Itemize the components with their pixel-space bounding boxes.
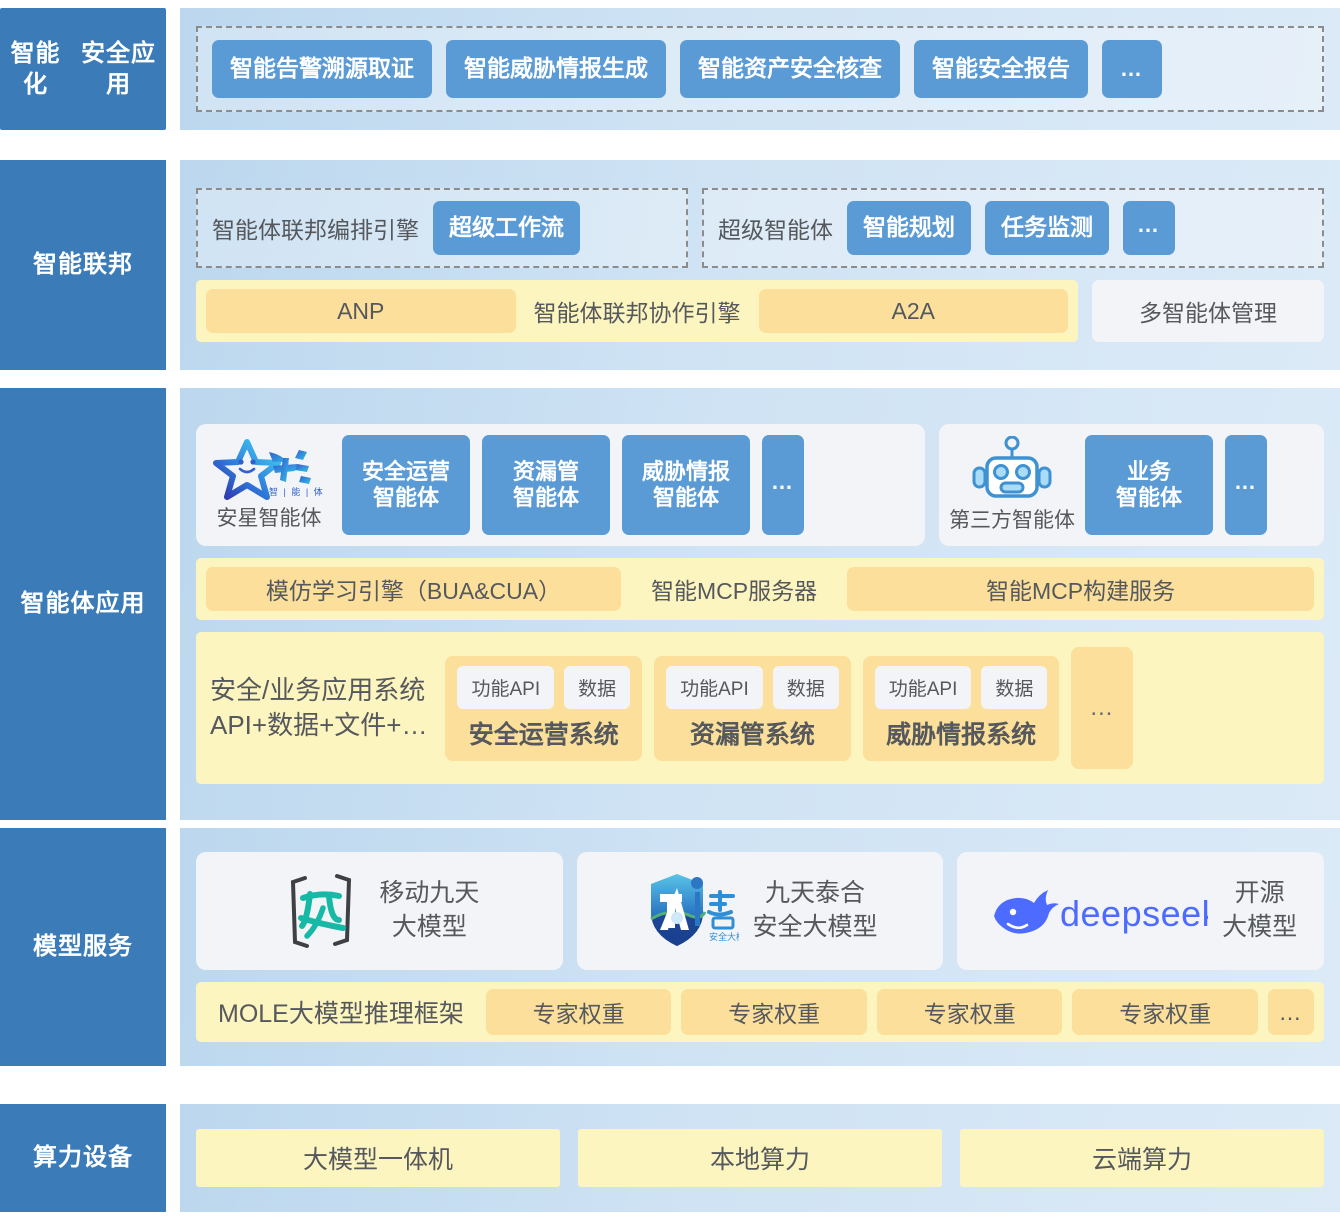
layer-row-compute-devices: 算力设备 大模型一体机 本地算力 云端算力 [0, 1104, 1340, 1212]
rail-text-line2: 安全应用 [71, 38, 166, 100]
federation-orchestration-label: 智能体联邦编排引擎 [212, 211, 419, 245]
tag-function-api: 功能API [457, 666, 554, 709]
system-name-security-ops: 安全运营系统 [469, 715, 619, 751]
architecture-diagram: 智能化 安全应用 智能告警溯源取证 智能威胁情报生成 智能资产安全核查 智能安全… [0, 0, 1340, 1218]
model-label-deepseek: 开源 大模型 [1222, 877, 1297, 945]
chip-intelligent-planning[interactable]: 智能规划 [847, 201, 971, 255]
expert-weight-more[interactable]: … [1268, 989, 1314, 1035]
compute-cells: 大模型一体机 本地算力 云端算力 [196, 1129, 1324, 1187]
layer-body-compute-devices: 大模型一体机 本地算力 云端算力 [180, 1104, 1340, 1212]
rail-label-agent-applications: 智能体应用 [0, 388, 166, 820]
mcp-server-label: 智能MCP服务器 [629, 572, 839, 606]
app-chip-asset-security-check[interactable]: 智能资产安全核查 [680, 40, 900, 98]
anxing-brand: 智 | 能 | 体 安星智能体 [208, 438, 330, 532]
layer-row-intelligent-federation: 智能联邦 智能体联邦编排引擎 超级工作流 超级智能体 智能规划 任务监测 … A… [0, 160, 1340, 370]
mcp-build-service[interactable]: 智能MCP构建服务 [847, 567, 1314, 611]
app-chip-threat-intel-gen[interactable]: 智能威胁情报生成 [446, 40, 666, 98]
agent-cards-strip: 智 | 能 | 体 安星智能体 安全运营智能体 资漏管智能体 威胁情报智能体 … [196, 424, 1324, 546]
rail-label-model-services: 模型服务 [0, 828, 166, 1066]
application-systems-band: 安全/业务应用系统 API+数据+文件+… 功能API 数据 安全运营系统 功能… [196, 632, 1324, 784]
anxing-star-logo: 智 | 能 | 体 [211, 438, 327, 500]
compute-cell-appliance[interactable]: 大模型一体机 [196, 1129, 560, 1187]
system-box-threat-intel[interactable]: 功能API 数据 威胁情报系统 [863, 656, 1060, 761]
layer-row-intelligent-security-apps: 智能化 安全应用 智能告警溯源取证 智能威胁情报生成 智能资产安全核查 智能安全… [0, 8, 1340, 130]
chip-super-agent-more[interactable]: … [1123, 201, 1175, 255]
chip-task-monitoring[interactable]: 任务监测 [985, 201, 1109, 255]
system-box-more[interactable]: … [1071, 647, 1133, 769]
rail-label-intelligent-federation: 智能联邦 [0, 160, 166, 370]
system-box-security-ops[interactable]: 功能API 数据 安全运营系统 [445, 656, 642, 761]
mcp-service-band: 模仿学习引擎（BUA&CUA） 智能MCP服务器 智能MCP构建服务 [196, 558, 1324, 620]
model-cards-strip: 移动九天 大模型 [196, 852, 1324, 970]
tag-function-api: 功能API [666, 666, 763, 709]
app-chip-security-report[interactable]: 智能安全报告 [914, 40, 1088, 98]
expert-weight-2[interactable]: 专家权重 [681, 989, 867, 1035]
model-label-jiutian: 移动九天 大模型 [379, 877, 479, 945]
mole-framework-band: MOLE大模型推理框架 专家权重 专家权重 专家权重 专家权重 … [196, 982, 1324, 1042]
agent-chip-security-ops[interactable]: 安全运营智能体 [342, 435, 470, 535]
imitation-learning-engine[interactable]: 模仿学习引擎（BUA&CUA） [206, 567, 621, 611]
system-box-vuln-asset[interactable]: 功能API 数据 资漏管系统 [654, 656, 851, 761]
third-party-agent-more[interactable]: … [1225, 435, 1267, 535]
layer-row-model-services: 模型服务 [0, 828, 1340, 1066]
third-party-brand-label: 第三方智能体 [949, 504, 1075, 534]
agent-chip-threat-intel[interactable]: 威胁情报智能体 [622, 435, 750, 535]
layer-body-model-services: 移动九天 大模型 [180, 828, 1340, 1066]
chip-super-workflow[interactable]: 超级工作流 [433, 201, 580, 255]
layer-row-agent-applications: 智能体应用 [0, 388, 1340, 820]
taihe-logo: 安全大模型 [643, 868, 739, 954]
expert-weight-3[interactable]: 专家权重 [877, 989, 1063, 1035]
svg-text:智 | 能 | 体: 智 | 能 | 体 [269, 486, 324, 497]
rail-text-line1: 智能化 [0, 38, 71, 100]
tag-data: 数据 [981, 666, 1047, 709]
anxing-agent-card: 智 | 能 | 体 安星智能体 安全运营智能体 资漏管智能体 威胁情报智能体 … [196, 424, 925, 546]
tag-data: 数据 [773, 666, 839, 709]
expert-weight-1[interactable]: 专家权重 [486, 989, 672, 1035]
protocol-a2a[interactable]: A2A [759, 289, 1069, 333]
app-chip-group: 智能告警溯源取证 智能威胁情报生成 智能资产安全核查 智能安全报告 … [196, 26, 1324, 112]
app-chip-more[interactable]: … [1102, 40, 1162, 98]
expert-weight-4[interactable]: 专家权重 [1072, 989, 1258, 1035]
federation-collab-engine-label: 智能体联邦协作引擎 [528, 294, 747, 328]
app-chip-alert-tracing[interactable]: 智能告警溯源取证 [212, 40, 432, 98]
super-agent-group: 超级智能体 智能规划 任务监测 … [702, 188, 1324, 268]
rail-label-compute-devices: 算力设备 [0, 1104, 166, 1212]
mole-framework-label: MOLE大模型推理框架 [206, 994, 476, 1030]
agent-chip-more[interactable]: … [762, 435, 804, 535]
anxing-brand-label: 安星智能体 [217, 502, 322, 532]
model-card-taihe[interactable]: 安全大模型 九天泰合 安全大模型 [577, 852, 944, 970]
tag-function-api: 功能API [875, 666, 972, 709]
jiutian-logo [279, 868, 365, 954]
compute-cell-local[interactable]: 本地算力 [578, 1129, 942, 1187]
federation-orchestration-group: 智能体联邦编排引擎 超级工作流 [196, 188, 688, 268]
multi-agent-management[interactable]: 多智能体管理 [1092, 280, 1324, 342]
federation-collab-engine: ANP 智能体联邦协作引擎 A2A [196, 280, 1078, 342]
rail-label-intelligent-security-apps: 智能化 安全应用 [0, 8, 166, 130]
tag-data: 数据 [564, 666, 630, 709]
svg-text:安全大模型: 安全大模型 [709, 931, 739, 942]
model-card-deepseek[interactable]: deepseek 开源 大模型 [957, 852, 1324, 970]
svg-text:deepseek: deepseek [1060, 893, 1208, 934]
layer-body-intelligent-security-apps: 智能告警溯源取证 智能威胁情报生成 智能资产安全核查 智能安全报告 … [180, 8, 1340, 130]
deepseek-logo: deepseek [984, 878, 1208, 944]
agent-chip-business[interactable]: 业务智能体 [1085, 435, 1213, 535]
super-agent-label: 超级智能体 [718, 211, 833, 245]
layer-body-intelligent-federation: 智能体联邦编排引擎 超级工作流 超级智能体 智能规划 任务监测 … ANP 智能… [180, 160, 1340, 370]
federation-engine-groups: 智能体联邦编排引擎 超级工作流 超级智能体 智能规划 任务监测 … [196, 188, 1324, 268]
third-party-agent-card: 第三方智能体 业务智能体 … [939, 424, 1324, 546]
model-card-jiutian[interactable]: 移动九天 大模型 [196, 852, 563, 970]
systems-lead-label: 安全/业务应用系统 API+数据+文件+… [210, 673, 433, 743]
system-name-threat-intel: 威胁情报系统 [886, 715, 1036, 751]
protocol-anp[interactable]: ANP [206, 289, 516, 333]
system-name-vuln-asset: 资漏管系统 [690, 715, 815, 751]
third-party-brand: 第三方智能体 [951, 436, 1073, 534]
robot-icon [969, 436, 1055, 502]
agent-chip-vuln-asset-mgmt[interactable]: 资漏管智能体 [482, 435, 610, 535]
compute-cell-cloud[interactable]: 云端算力 [960, 1129, 1324, 1187]
layer-body-agent-applications: 智 | 能 | 体 安星智能体 安全运营智能体 资漏管智能体 威胁情报智能体 … [180, 388, 1340, 820]
federation-protocol-row: ANP 智能体联邦协作引擎 A2A 多智能体管理 [196, 280, 1324, 342]
model-label-taihe: 九天泰合 安全大模型 [753, 877, 878, 945]
